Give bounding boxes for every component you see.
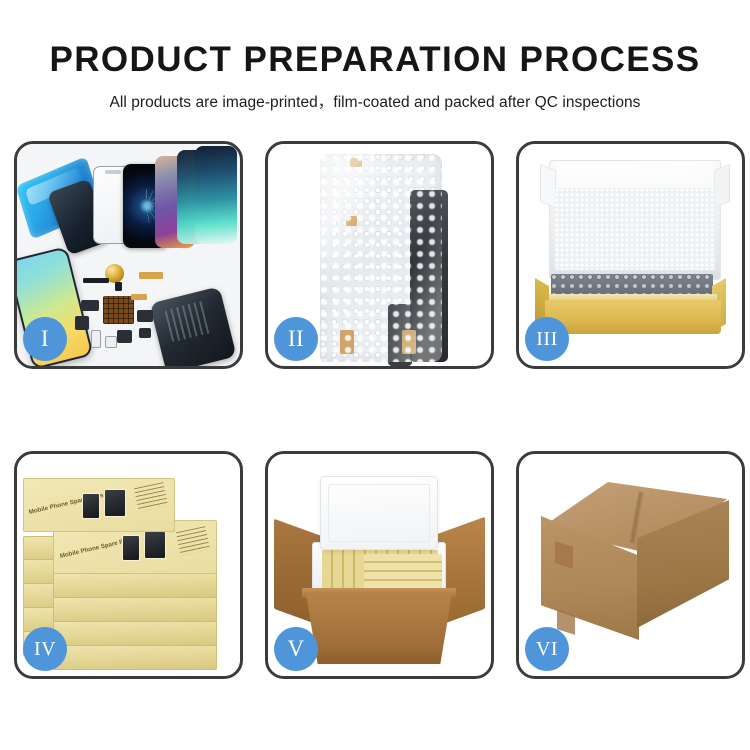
tape-seal-top — [350, 158, 362, 167]
header: PRODUCT PREPARATION PROCESS All products… — [0, 0, 750, 112]
camera-module-part — [81, 300, 99, 311]
phone-screen-teal-2 — [195, 146, 237, 244]
bubble-wrap-bag — [320, 154, 442, 362]
step-badge-1: I — [23, 317, 67, 361]
stacked-box-r5 — [53, 644, 217, 670]
kraft-box-front — [545, 300, 721, 334]
step-card-6: VI — [516, 451, 745, 679]
tape-seal-mid — [346, 216, 357, 226]
screw-plate-part — [105, 336, 117, 348]
tape-seal-bottom-right — [402, 330, 416, 354]
taptic-engine-part — [117, 330, 132, 343]
wrapped-spare-part — [410, 190, 448, 362]
step-card-2: II — [265, 141, 494, 369]
step-badge-6: VI — [525, 627, 569, 671]
white-foam-sheet — [555, 188, 715, 270]
step-card-5: V — [265, 451, 494, 679]
box-label-screen-img-4 — [144, 531, 166, 559]
box-label-screen-img-3 — [122, 535, 140, 561]
foam-box-lid — [320, 476, 438, 550]
phone-back-housing — [149, 286, 236, 366]
tape-seal-bottom-left — [340, 330, 354, 354]
page-title: PRODUCT PREPARATION PROCESS — [0, 42, 750, 79]
vibrator-part — [75, 316, 89, 330]
step-card-3: III — [516, 141, 745, 369]
stacked-box-r2 — [53, 572, 217, 598]
connector-part — [137, 310, 153, 322]
page-subtitle: All products are image-printed，film-coat… — [0, 90, 750, 112]
carton-front-face — [306, 594, 452, 664]
top-box-left: Mobile Phone Spare Parts — [23, 478, 175, 532]
step-badge-5: V — [274, 627, 318, 671]
kraft-boxes-row-2 — [364, 554, 442, 590]
wrapped-spare-part-tail — [388, 304, 412, 366]
process-step-grid: I II — [14, 141, 736, 679]
sim-card-part — [91, 330, 101, 348]
ic-chip-grid-part — [103, 296, 134, 324]
bubble-texture-overlay — [320, 154, 442, 362]
step-badge-3: III — [525, 317, 569, 361]
flex-cable-part-1 — [139, 272, 163, 279]
step-card-4: Mobile Phone Spare Parts Mobile Phone Sp… — [14, 451, 243, 679]
stacked-box-r4 — [53, 620, 217, 646]
box-label-screen-img-2 — [104, 489, 126, 517]
step-badge-2: II — [274, 317, 318, 361]
step-badge-4: IV — [23, 627, 67, 671]
button-part — [115, 282, 122, 291]
box-spec-lines-1 — [134, 482, 168, 512]
sim-tray-part — [139, 328, 151, 338]
product-preparation-infographic: PRODUCT PREPARATION PROCESS All products… — [0, 0, 750, 750]
box-spec-lines-2 — [176, 526, 210, 556]
flex-cable-part-2 — [131, 294, 147, 300]
antenna-strip-part — [83, 278, 109, 283]
box-label-screen-img-1 — [82, 493, 100, 519]
stacked-box-r3 — [53, 596, 217, 622]
step-card-1: I — [14, 141, 243, 369]
